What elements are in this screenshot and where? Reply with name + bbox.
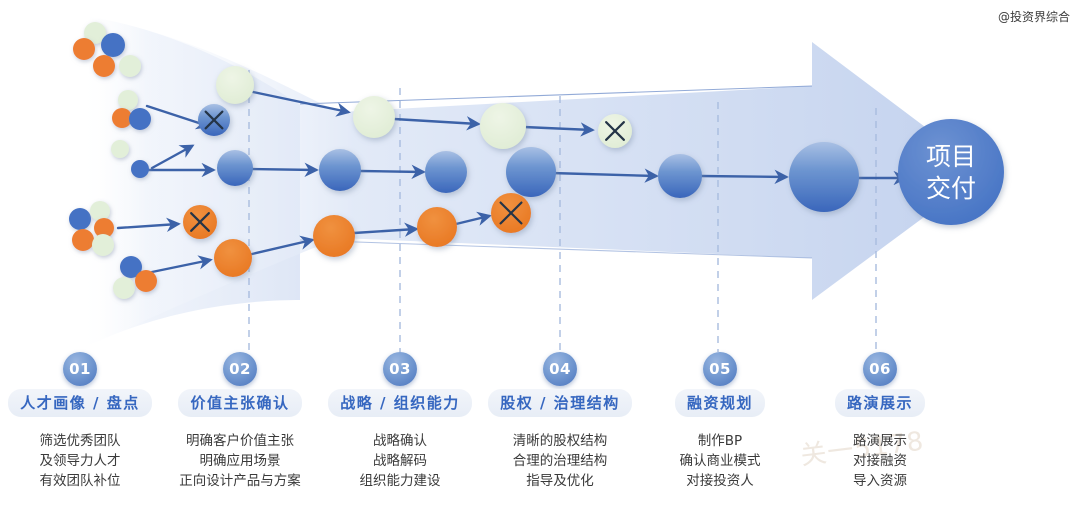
step-title[interactable]: 战略 / 组织能力 bbox=[328, 389, 471, 417]
step-title[interactable]: 路演展示 bbox=[835, 389, 925, 417]
step-column-02[interactable]: 02价值主张确认明确客户价值主张明确应用场景正向设计产品与方案 bbox=[160, 352, 320, 532]
seed-dot bbox=[73, 38, 95, 60]
step-detail-line: 战略确认 bbox=[360, 431, 441, 451]
step-detail-line: 合理的治理结构 bbox=[513, 451, 608, 471]
seed-dot bbox=[72, 229, 94, 251]
step-detail-line: 明确应用场景 bbox=[179, 451, 301, 471]
step-column-04[interactable]: 04股权 / 治理结构清晰的股权结构合理的治理结构指导及优化 bbox=[480, 352, 640, 532]
step-detail-line: 明确客户价值主张 bbox=[179, 431, 301, 451]
step-detail-list: 路演展示对接融资导入资源 bbox=[853, 431, 907, 491]
step-detail-list: 筛选优秀团队及领导力人才有效团队补位 bbox=[40, 431, 121, 491]
funnel-node-o2 bbox=[313, 215, 355, 257]
funnel-node-o1 bbox=[214, 239, 252, 277]
step-detail-line: 清晰的股权结构 bbox=[513, 431, 608, 451]
seed-dot bbox=[90, 201, 110, 221]
funnel-node-o0 bbox=[183, 205, 217, 239]
step-detail-line: 组织能力建设 bbox=[360, 471, 441, 491]
diagram-canvas: @投资界综合 关一5178 bbox=[0, 0, 1080, 532]
step-detail-list: 清晰的股权结构合理的治理结构指导及优化 bbox=[513, 431, 608, 491]
step-number-badge: 02 bbox=[223, 352, 257, 386]
step-column-06[interactable]: 06路演展示路演展示对接融资导入资源 bbox=[800, 352, 960, 532]
step-detail-list: 制作BP确认商业模式对接投资人 bbox=[680, 431, 761, 491]
step-detail-list: 战略确认战略解码组织能力建设 bbox=[360, 431, 441, 491]
step-detail-line: 对接投资人 bbox=[680, 471, 761, 491]
funnel-node-b5 bbox=[658, 154, 702, 198]
step-detail-line: 筛选优秀团队 bbox=[40, 431, 121, 451]
seed-dot bbox=[113, 277, 135, 299]
funnel-node-b4 bbox=[506, 147, 556, 197]
funnel-node-o4 bbox=[491, 193, 531, 233]
step-number-badge: 06 bbox=[863, 352, 897, 386]
step-title[interactable]: 价值主张确认 bbox=[178, 389, 301, 417]
step-title[interactable]: 人才画像 / 盘点 bbox=[8, 389, 151, 417]
step-number-badge: 03 bbox=[383, 352, 417, 386]
step-number-badge: 01 bbox=[63, 352, 97, 386]
funnel-node-g1 bbox=[216, 66, 254, 104]
seed-dot bbox=[93, 55, 115, 77]
step-detail-line: 战略解码 bbox=[360, 451, 441, 471]
step-title[interactable]: 融资规划 bbox=[675, 389, 765, 417]
funnel-node-g4 bbox=[598, 114, 632, 148]
funnel-node-b3 bbox=[425, 151, 467, 193]
outcome-line-2: 交付 bbox=[926, 173, 976, 205]
step-detail-list: 明确客户价值主张明确应用场景正向设计产品与方案 bbox=[179, 431, 301, 491]
funnel-node-b1 bbox=[217, 150, 253, 186]
seed-dot bbox=[92, 234, 114, 256]
step-list: 01人才画像 / 盘点筛选优秀团队及领导力人才有效团队补位02价值主张确认明确客… bbox=[0, 352, 1080, 532]
funnel-node-o3 bbox=[417, 207, 457, 247]
step-detail-line: 指导及优化 bbox=[513, 471, 608, 491]
step-column-05[interactable]: 05融资规划制作BP确认商业模式对接投资人 bbox=[640, 352, 800, 532]
step-detail-line: 确认商业模式 bbox=[680, 451, 761, 471]
seed-dot bbox=[111, 140, 129, 158]
step-column-01[interactable]: 01人才画像 / 盘点筛选优秀团队及领导力人才有效团队补位 bbox=[0, 352, 160, 532]
step-number-badge: 04 bbox=[543, 352, 577, 386]
step-column-03[interactable]: 03战略 / 组织能力战略确认战略解码组织能力建设 bbox=[320, 352, 480, 532]
seed-dot bbox=[69, 208, 91, 230]
step-detail-line: 导入资源 bbox=[853, 471, 907, 491]
funnel-node-b2 bbox=[319, 149, 361, 191]
seed-dot bbox=[119, 55, 141, 77]
seed-dot bbox=[118, 90, 138, 110]
step-title[interactable]: 股权 / 治理结构 bbox=[488, 389, 631, 417]
step-detail-line: 正向设计产品与方案 bbox=[179, 471, 301, 491]
funnel-node-g3 bbox=[480, 103, 526, 149]
step-number-badge: 05 bbox=[703, 352, 737, 386]
step-detail-line: 及领导力人才 bbox=[40, 451, 121, 471]
funnel-node-g2 bbox=[353, 96, 395, 138]
outcome-line-1: 项目 bbox=[926, 141, 976, 173]
seed-dot bbox=[112, 108, 132, 128]
seed-dot bbox=[135, 270, 157, 292]
step-detail-line: 制作BP bbox=[680, 431, 761, 451]
step-detail-line: 有效团队补位 bbox=[40, 471, 121, 491]
step-detail-line: 对接融资 bbox=[853, 451, 907, 471]
outcome-label: 项目 交付 bbox=[898, 128, 1004, 218]
seed-dot bbox=[101, 33, 125, 57]
funnel-node-b0 bbox=[198, 104, 230, 136]
funnel-node-b6 bbox=[789, 142, 859, 212]
step-detail-line: 路演展示 bbox=[853, 431, 907, 451]
seed-dot bbox=[129, 108, 151, 130]
seed-dot bbox=[131, 160, 149, 178]
